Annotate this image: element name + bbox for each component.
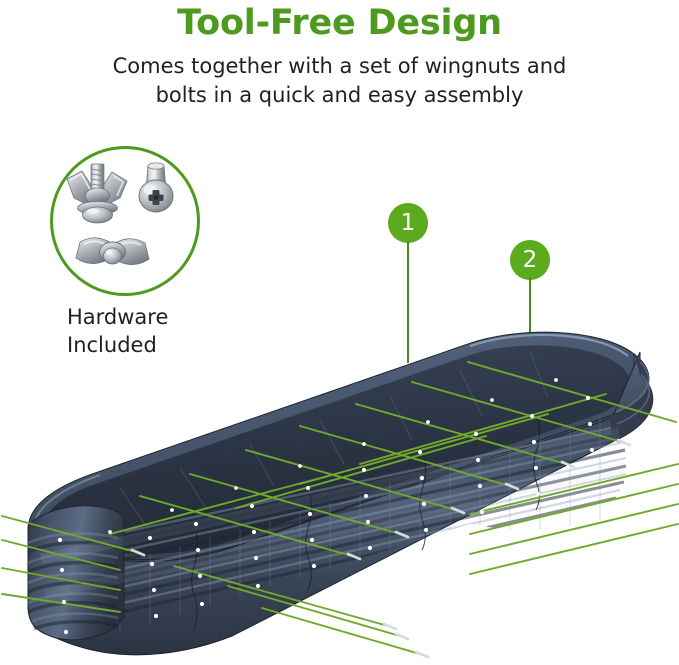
wingnut-on-bolt-icon <box>67 164 127 223</box>
wingnut-icon <box>76 238 149 265</box>
callout-badge-1-number: 1 <box>388 203 428 243</box>
hardware-illustration <box>50 146 200 296</box>
subtitle-line-1: Comes together with a set of wingnuts an… <box>0 52 679 82</box>
header: Tool-Free Design Comes together with a s… <box>0 0 679 111</box>
subtitle-line-2: bolts in a quick and easy assembly <box>0 81 679 111</box>
raised-garden-bed-illustration <box>0 318 679 665</box>
page-subtitle: Comes together with a set of wingnuts an… <box>0 43 679 112</box>
callout-badge-2-number: 2 <box>510 240 550 280</box>
pan-head-bolt-icon <box>139 163 173 212</box>
page-title: Tool-Free Design <box>0 0 679 43</box>
